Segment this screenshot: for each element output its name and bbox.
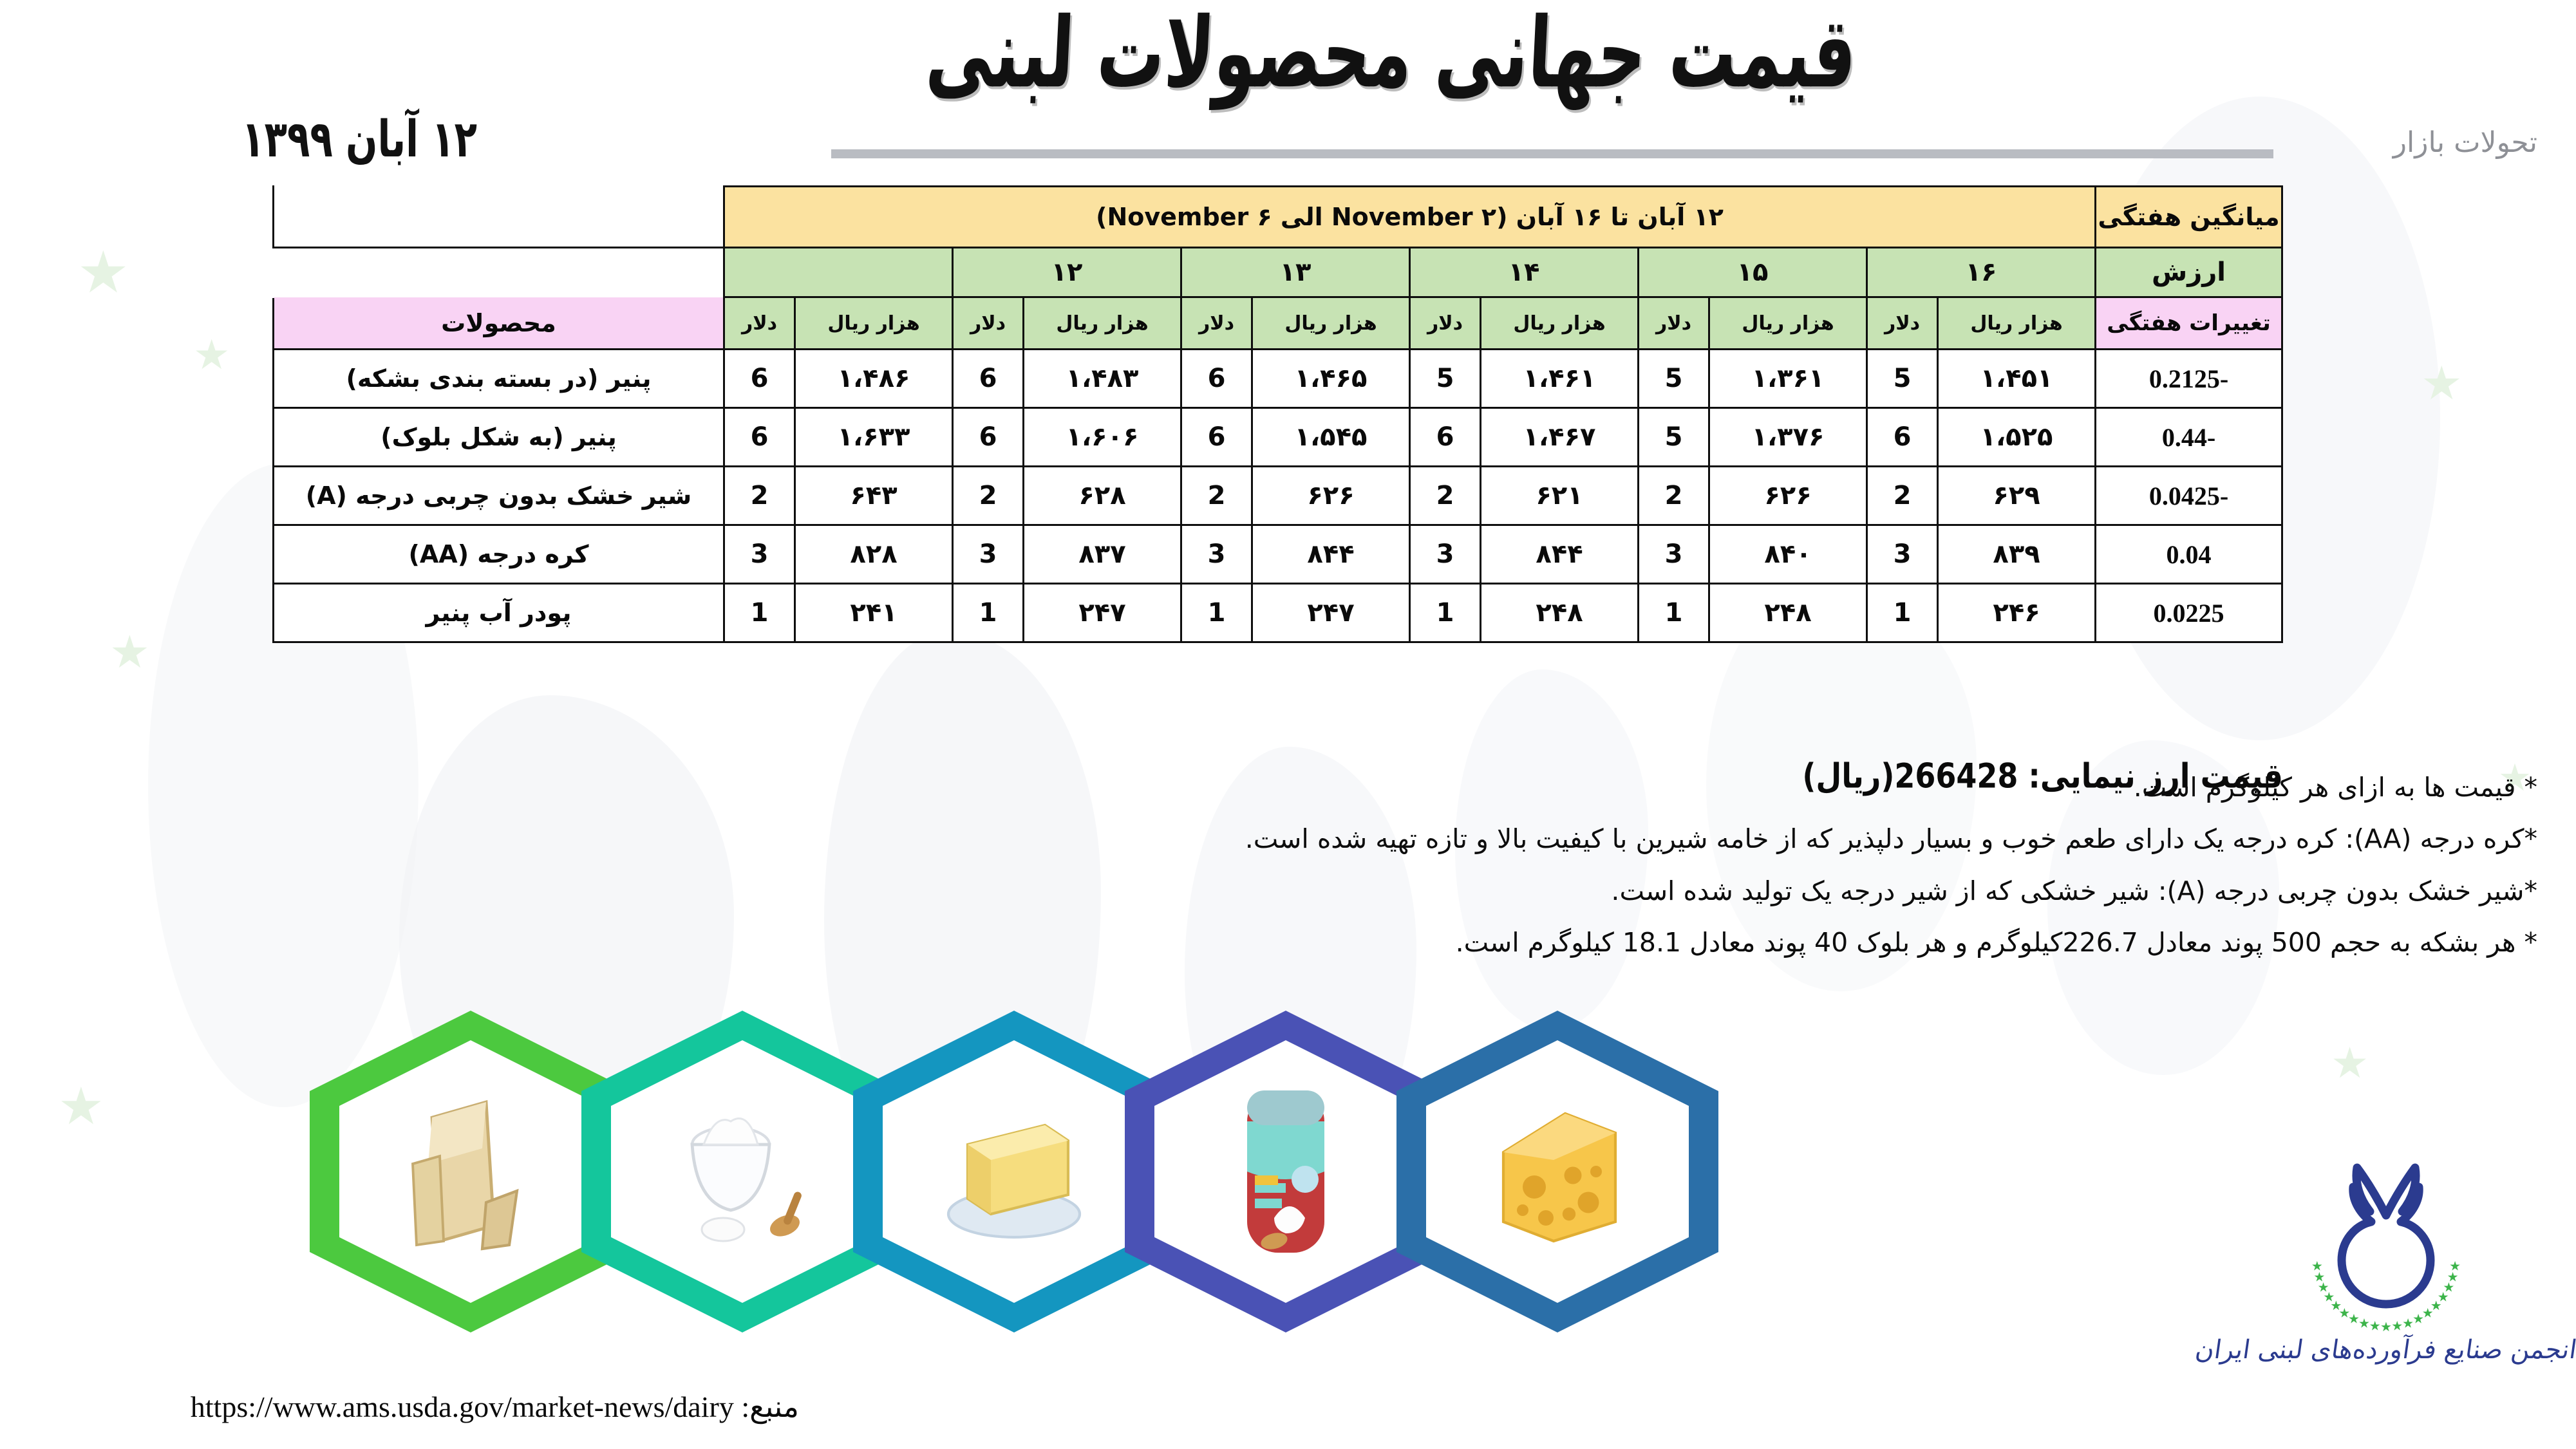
cell-avg-usd: 1 [1867, 584, 1938, 642]
cell-avg-usd: 5 [1867, 350, 1938, 408]
table-row: -0.0425۶۲۹2۶۲۶2۶۲۱2۶۲۶2۶۲۸2۶۴۳2شیر خشک ب… [274, 467, 2282, 525]
header-day-14: ۱۴ [1410, 248, 1639, 297]
header-unit-rial-16: هزار ریال [1709, 297, 1867, 350]
product-hexagon [581, 1011, 903, 1332]
cell-avg-rial: ۸۳۹ [1938, 525, 2096, 584]
header-unit-usd-16: دلار [1639, 297, 1709, 350]
cell-day-usd: 3 [1410, 525, 1481, 584]
cell-day-usd: 5 [1639, 408, 1709, 467]
cell-day-usd: 6 [1181, 408, 1252, 467]
cell-day-usd: 1 [953, 584, 1024, 642]
header-day-blank [724, 248, 953, 297]
cell-day-usd: 6 [1181, 350, 1252, 408]
product-hexagon [310, 1011, 632, 1332]
cell-weekly-change: 0.0225 [2096, 584, 2282, 642]
table-row: -0.2125۱،۴۵۱5۱،۳۶۱5۱،۴۶۱5۱،۴۶۵6۱،۴۸۳6۱،۴… [274, 350, 2282, 408]
cell-day-usd: 6 [724, 350, 795, 408]
cell-day-rial: ۶۲۸ [1024, 467, 1181, 525]
footnote-4: * هر بشکه به حجم 500 پوند معادل 226.7کیل… [889, 922, 2537, 962]
cell-product-name: پودر آب پنیر [274, 584, 724, 642]
source-url[interactable]: https://www.ams.usda.gov/market-news/dai… [191, 1390, 734, 1423]
header-weekly-change: تغییرات هفتگی [2096, 297, 2282, 350]
cell-day-usd: 5 [1639, 350, 1709, 408]
tulip-logo-icon: ★★★★★★★★★★★★★★★★★★★ [2280, 1159, 2492, 1332]
cell-day-rial: ۸۲۸ [795, 525, 953, 584]
cell-product-name: شیر خشک بدون چربی درجه (A) [274, 467, 724, 525]
cell-day-rial: ۸۴۴ [1481, 525, 1639, 584]
cell-day-rial: ۱،۶۳۳ [795, 408, 953, 467]
cell-day-usd: 1 [1181, 584, 1252, 642]
header-unit-rial-15: هزار ریال [1481, 297, 1639, 350]
cell-product-name: کره درجه (AA) [274, 525, 724, 584]
cell-day-usd: 3 [1181, 525, 1252, 584]
cell-day-rial: ۱،۵۴۵ [1252, 408, 1410, 467]
cell-weekly-change: 0.04 [2096, 525, 2282, 584]
cell-avg-rial: ۲۴۶ [1938, 584, 2096, 642]
cell-day-rial: ۲۴۸ [1481, 584, 1639, 642]
association-logo: ★★★★★★★★★★★★★★★★★★★ انجمن صنایع فرآورده‌… [2248, 1159, 2524, 1416]
cell-day-rial: ۶۴۳ [795, 467, 953, 525]
header-value-label: ارزش [2096, 248, 2282, 297]
header-unit-rial-14: هزار ریال [1252, 297, 1410, 350]
cell-day-rial: ۱،۴۸۳ [1024, 350, 1181, 408]
header-unit-usd-12: دلار [724, 297, 795, 350]
cell-day-rial: ۱،۳۶۱ [1709, 350, 1867, 408]
page-title: قیمت جهانی محصولات لبنی [966, 0, 1816, 111]
header-date-range: ۱۲ آبان تا ۱۶ آبان (۲ November الی ۶ Nov… [724, 187, 2096, 248]
cell-day-usd: 2 [1639, 467, 1709, 525]
source-label: منبع: [741, 1390, 799, 1423]
cell-day-rial: ۸۳۷ [1024, 525, 1181, 584]
cell-day-usd: 6 [953, 408, 1024, 467]
dairy-price-table: میانگین هفتگی ۱۲ آبان تا ۱۶ آبان (۲ Nove… [272, 185, 2283, 643]
svg-text:★: ★ [2449, 1260, 2461, 1274]
cell-avg-rial: ۱،۴۵۱ [1938, 350, 2096, 408]
header-corner-blank [274, 187, 724, 248]
header-divider-rule [831, 149, 2273, 158]
cheese-wedge-barrel-icon [355, 1056, 587, 1287]
cell-product-name: پنیر (در بسته بندی بشکه) [274, 350, 724, 408]
header-unit-usd-15: دلار [1410, 297, 1481, 350]
cell-day-usd: 6 [953, 350, 1024, 408]
cell-day-rial: ۱،۶۰۶ [1024, 408, 1181, 467]
cell-weekly-change: -0.44 [2096, 408, 2282, 467]
swiss-cheese-icon [1442, 1056, 1673, 1287]
association-name: انجمن صنایع فرآورده‌های لبنی ایران [2194, 1335, 2576, 1365]
header-row2-blank [274, 248, 724, 297]
cell-day-usd: 6 [1410, 408, 1481, 467]
header-day-15: ۱۵ [1639, 248, 1867, 297]
header-products: محصولات [274, 297, 724, 350]
cell-day-usd: 2 [724, 467, 795, 525]
header-day-13: ۱۳ [1181, 248, 1410, 297]
footnote-1: * قیمت ها به ازای هر کیلوگرم است. [889, 767, 2537, 807]
cell-day-rial: ۶۲۱ [1481, 467, 1639, 525]
svg-text:★: ★ [2369, 1320, 2381, 1332]
cell-day-rial: ۲۴۱ [795, 584, 953, 642]
header-unit-rial-13: هزار ریال [1024, 297, 1181, 350]
header-unit-usd-14: دلار [1181, 297, 1252, 350]
cell-day-rial: ۲۴۸ [1709, 584, 1867, 642]
svg-text:★: ★ [2380, 1320, 2392, 1332]
cell-day-rial: ۸۴۴ [1252, 525, 1410, 584]
cell-day-rial: ۱،۴۶۵ [1252, 350, 1410, 408]
header-unit-usd-avg: دلار [1867, 297, 1938, 350]
product-hexagon [853, 1011, 1175, 1332]
cell-avg-usd: 3 [1867, 525, 1938, 584]
cell-day-usd: 1 [1639, 584, 1709, 642]
header-unit-rial-avg: هزار ریال [1938, 297, 2096, 350]
table-body: -0.2125۱،۴۵۱5۱،۳۶۱5۱،۴۶۱5۱،۴۶۵6۱،۴۸۳6۱،۴… [274, 350, 2282, 642]
cell-day-rial: ۱،۴۶۷ [1481, 408, 1639, 467]
cell-day-usd: 2 [1181, 467, 1252, 525]
cell-day-usd: 3 [724, 525, 795, 584]
page-title-text: قیمت جهانی محصولات لبنی [924, 0, 1859, 109]
header-day-12: ۱۲ [953, 248, 1181, 297]
source-credit: منبع: https://www.ams.usda.gov/market-ne… [191, 1389, 799, 1424]
cell-product-name: پنیر (به شکل بلوک) [274, 408, 724, 467]
cell-day-usd: 1 [724, 584, 795, 642]
cell-day-rial: ۱،۴۸۶ [795, 350, 953, 408]
product-hexagon [1125, 1011, 1447, 1332]
footnote-3: *شیر خشک بدون چربی درجه (A): شیر خشکی که… [889, 871, 2537, 911]
cell-day-rial: ۲۴۷ [1252, 584, 1410, 642]
table-row: -0.44۱،۵۲۵6۱،۳۷۶5۱،۴۶۷6۱،۵۴۵6۱،۶۰۶6۱،۶۳۳… [274, 408, 2282, 467]
table-header-row-3: تغییرات هفتگی هزار ریال دلار هزار ریال د… [274, 297, 2282, 350]
product-icon-strip [310, 1004, 2215, 1339]
header-unit-usd-13: دلار [953, 297, 1024, 350]
cell-avg-rial: ۱،۵۲۵ [1938, 408, 2096, 467]
footnote-2: *کره درجه (AA): کره درجه یک دارای طعم خو… [889, 819, 2537, 859]
butter-block-icon [898, 1056, 1130, 1287]
cell-day-usd: 2 [953, 467, 1024, 525]
cell-day-usd: 3 [1639, 525, 1709, 584]
cell-day-rial: ۲۴۷ [1024, 584, 1181, 642]
table-header-row-1: میانگین هفتگی ۱۲ آبان تا ۱۶ آبان (۲ Nove… [274, 187, 2282, 248]
cell-day-rial: ۶۲۶ [1252, 467, 1410, 525]
cell-weekly-change: -0.2125 [2096, 350, 2282, 408]
dry-whole-milk-can-icon [1170, 1056, 1402, 1287]
cell-day-usd: 5 [1410, 350, 1481, 408]
svg-text:★: ★ [2391, 1320, 2403, 1332]
svg-text:★: ★ [2358, 1316, 2370, 1331]
header-weekly-average: میانگین هفتگی [2096, 187, 2282, 248]
cell-avg-usd: 2 [1867, 467, 1938, 525]
cell-day-usd: 3 [953, 525, 1024, 584]
table-header-row-2: ارزش ۱۶ ۱۵ ۱۴ ۱۳ ۱۲ [274, 248, 2282, 297]
cell-day-usd: 2 [1410, 467, 1481, 525]
cell-avg-rial: ۶۲۹ [1938, 467, 2096, 525]
product-hexagon [1396, 1011, 1718, 1332]
cell-avg-usd: 6 [1867, 408, 1938, 467]
table-row: 0.0225۲۴۶1۲۴۸1۲۴۸1۲۴۷1۲۴۷1۲۴۱1پودر آب پن… [274, 584, 2282, 642]
cell-day-usd: 6 [724, 408, 795, 467]
market-section-label: تحولات بازار [2393, 126, 2537, 159]
cell-day-rial: ۸۴۰ [1709, 525, 1867, 584]
header-day-16: ۱۶ [1867, 248, 2096, 297]
cell-day-usd: 1 [1410, 584, 1481, 642]
table-row: 0.04۸۳۹3۸۴۰3۸۴۴3۸۴۴3۸۳۷3۸۲۸3کره درجه (AA… [274, 525, 2282, 584]
footnotes-block: * قیمت ها به ازای هر کیلوگرم است. *کره د… [889, 767, 2537, 974]
cell-weekly-change: -0.0425 [2096, 467, 2282, 525]
cell-day-rial: ۶۲۶ [1709, 467, 1867, 525]
cell-day-rial: ۱،۳۷۶ [1709, 408, 1867, 467]
milk-powder-bowl-icon [626, 1056, 858, 1287]
publication-date: ۱۲ آبان ۱۳۹۹ [241, 109, 477, 169]
header-unit-rial-12: هزار ریال [795, 297, 953, 350]
cell-day-rial: ۱،۴۶۱ [1481, 350, 1639, 408]
